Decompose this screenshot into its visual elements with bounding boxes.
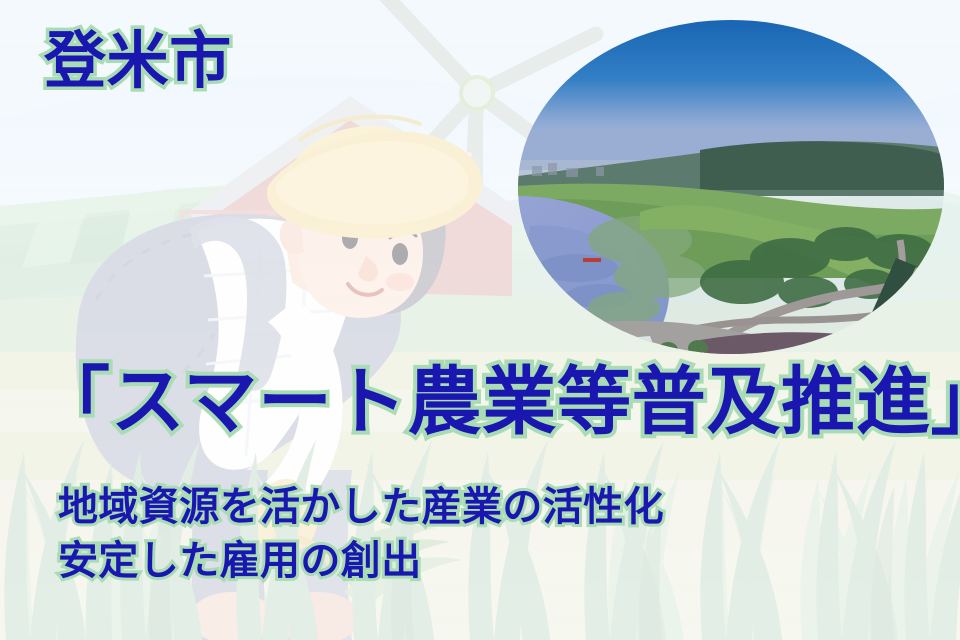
subtitle-line-1: 地域資源を活かした産業の活性化 [58, 487, 664, 527]
subtitle-line-2: 安定した雇用の創出 [58, 541, 422, 581]
poster-canvas: 登米市 「スマート農業等普及推進」 地域資源を活かした産業の活性化 安定した雇用… [0, 0, 960, 640]
headline-text: 「スマート農業等普及推進」 [36, 365, 960, 439]
page-title: 登米市 [44, 30, 232, 92]
